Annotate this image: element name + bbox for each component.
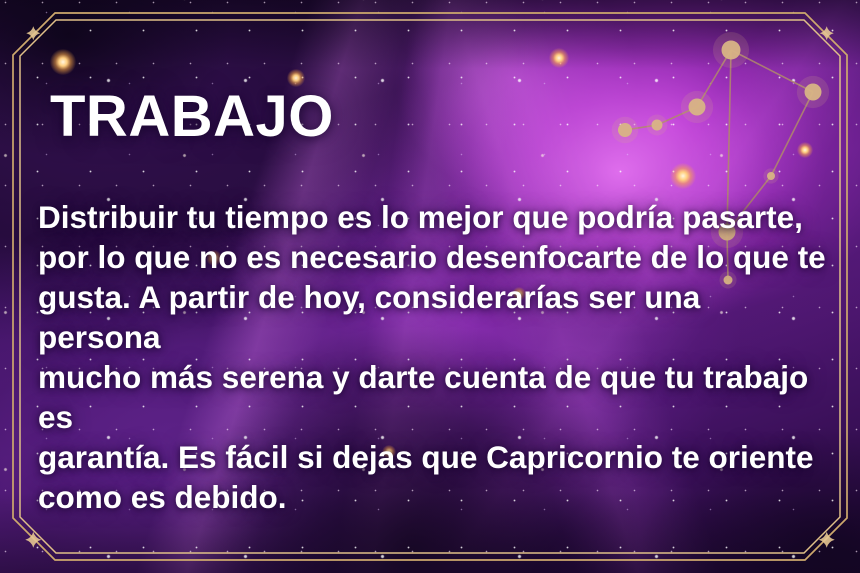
body-text-line: por lo que no es necesario desenfocarte … <box>38 239 826 275</box>
body-text-line: Distribuir tu tiempo es lo mejor que pod… <box>38 199 803 235</box>
body-text-line: gusta. A partir de hoy, considerarías se… <box>38 279 700 355</box>
horoscope-card: TRABAJO Distribuir tu tiempo es lo mejor… <box>0 0 860 573</box>
horoscope-body-text: Distribuir tu tiempo es lo mejor que pod… <box>38 197 828 517</box>
body-text-line: como es debido. <box>38 479 287 515</box>
body-text-line: mucho más serena y darte cuenta de que t… <box>38 359 808 435</box>
body-text-line: garantía. Es fácil si dejas que Capricor… <box>38 439 814 475</box>
page-title: TRABAJO <box>50 88 334 146</box>
card-content: TRABAJO Distribuir tu tiempo es lo mejor… <box>0 0 860 573</box>
